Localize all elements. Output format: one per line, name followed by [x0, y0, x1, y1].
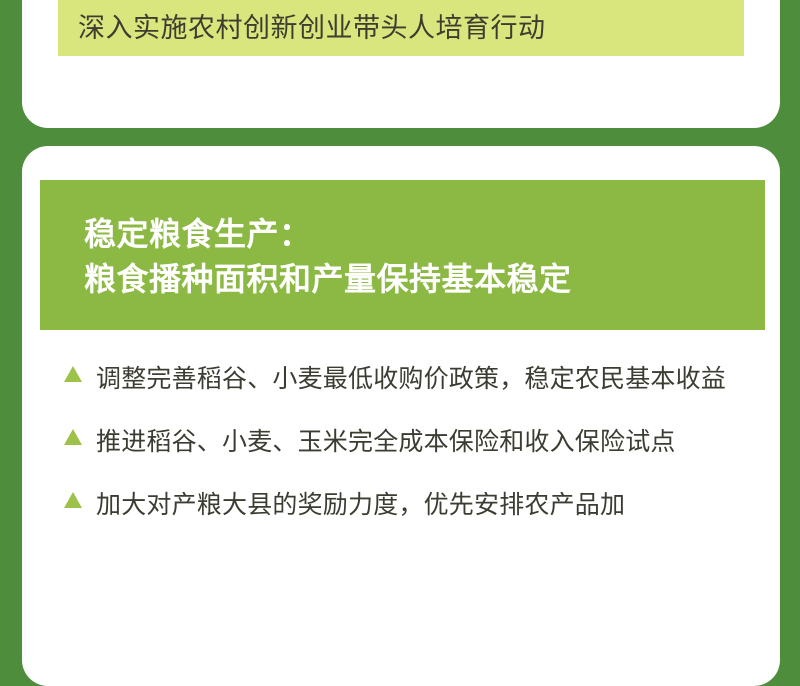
highlight-bar-text: 深入实施农村创新创业带头人培育行动	[58, 12, 546, 44]
section-heading-line-1: 稳定粮食生产：	[84, 212, 745, 257]
main-card: 稳定粮食生产： 粮食播种面积和产量保持基本稳定 调整完善稻谷、小麦最低收购价政策…	[22, 146, 780, 686]
section-heading-line-2: 粮食播种面积和产量保持基本稳定	[84, 257, 745, 302]
bullet-list: 调整完善稻谷、小麦最低收购价政策，稳定农民基本收益 推进稻谷、小麦、玉米完全成本…	[40, 352, 780, 541]
list-item-text: 推进稻谷、小麦、玉米完全成本保险和收入保险试点	[96, 415, 780, 470]
section-heading-block: 稳定粮食生产： 粮食播种面积和产量保持基本稳定	[40, 180, 765, 330]
highlight-bar: 深入实施农村创新创业带头人培育行动	[58, 0, 744, 56]
list-item: 加大对产粮大县的奖励力度，优先安排农产品加	[40, 478, 780, 533]
list-item-text: 调整完善稻谷、小麦最低收购价政策，稳定农民基本收益	[96, 352, 780, 407]
triangle-up-icon	[64, 429, 82, 445]
list-item: 调整完善稻谷、小麦最低收购价政策，稳定农民基本收益	[40, 352, 780, 407]
triangle-up-icon	[64, 492, 82, 508]
top-card: 深入实施农村创新创业带头人培育行动	[22, 0, 780, 128]
infographic-page: 深入实施农村创新创业带头人培育行动 稳定粮食生产： 粮食播种面积和产量保持基本稳…	[0, 0, 800, 656]
list-item-text: 加大对产粮大县的奖励力度，优先安排农产品加	[96, 478, 780, 533]
triangle-up-icon	[64, 366, 82, 382]
list-item: 推进稻谷、小麦、玉米完全成本保险和收入保险试点	[40, 415, 780, 470]
